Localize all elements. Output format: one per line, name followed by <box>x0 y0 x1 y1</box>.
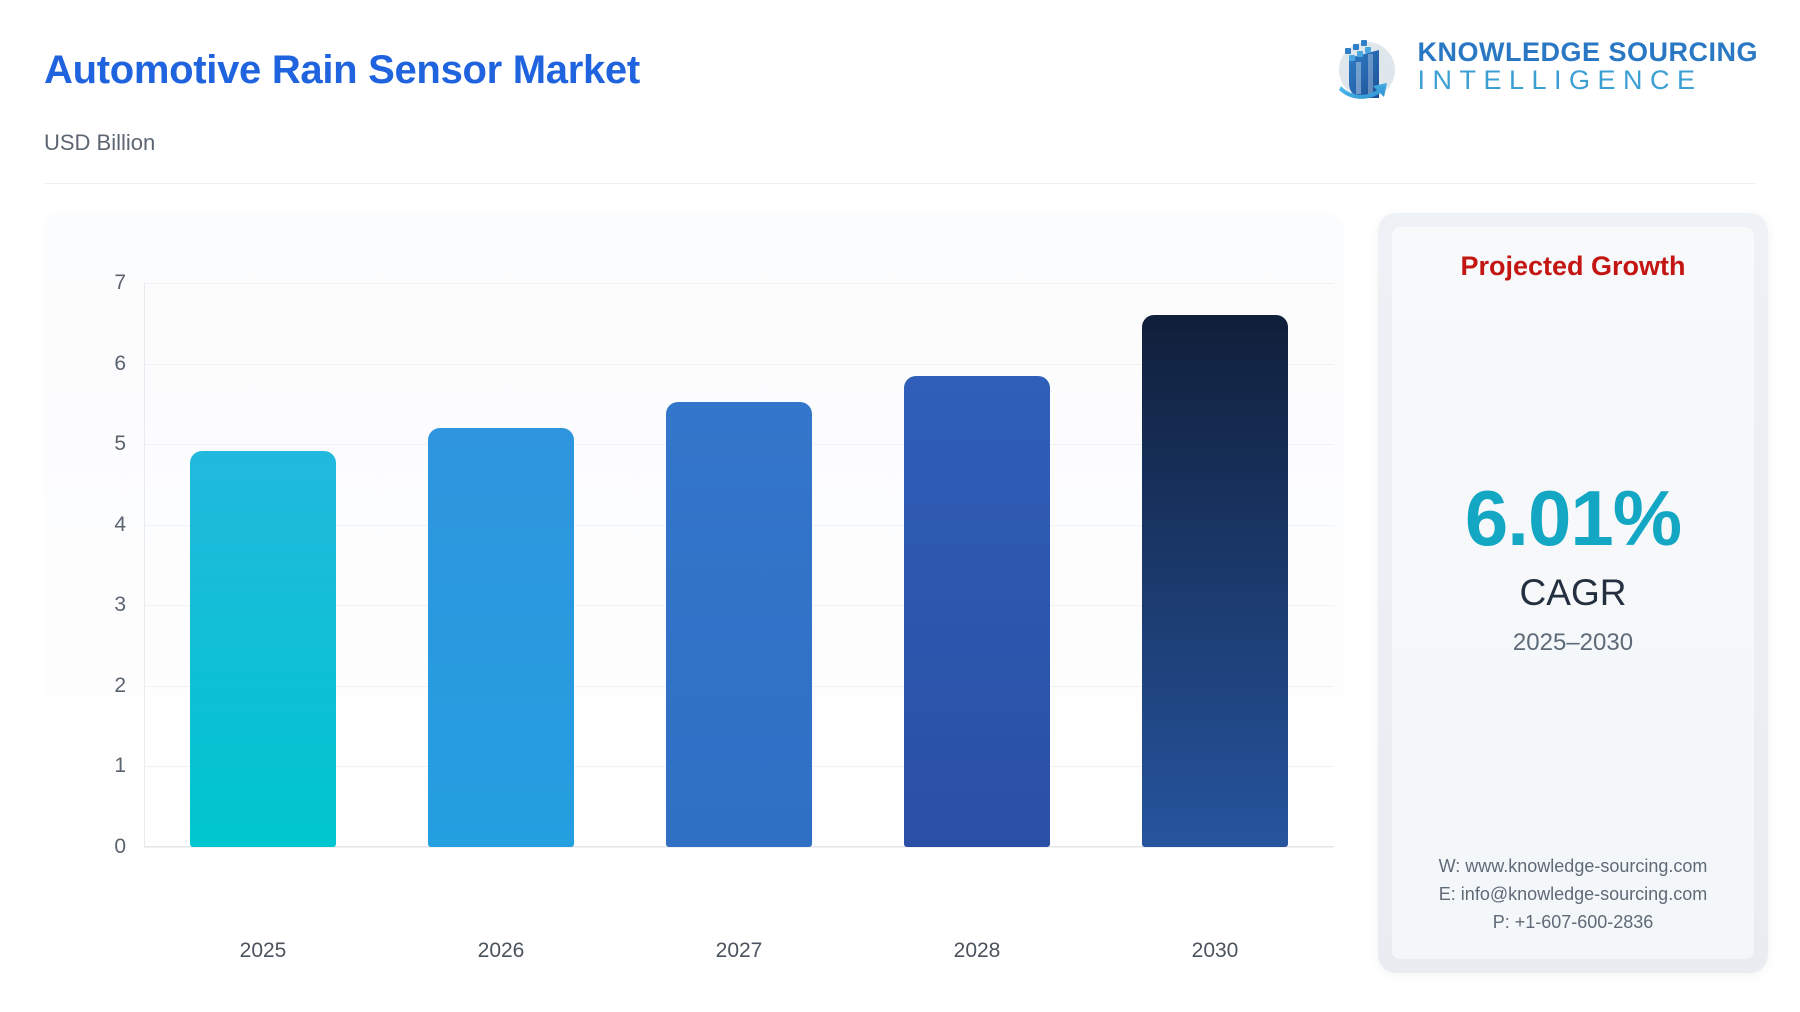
cagr-label: CAGR <box>1392 572 1754 614</box>
y-tick-label: 2 <box>86 674 126 698</box>
chart-card: 01234567 20252026202720282030 Source: Kn… <box>44 213 1344 953</box>
cagr-value: 6.01% <box>1392 473 1754 564</box>
ksi-circle-bars-arrow-logo-icon <box>1327 28 1403 104</box>
gridline <box>144 847 1334 848</box>
y-tick-label: 3 <box>86 593 126 617</box>
contact-phone[interactable]: P: +1-607-600-2836 <box>1392 909 1754 937</box>
panel-title: Projected Growth <box>1392 251 1754 282</box>
logo-wordmark: KNOWLEDGE SOURCING INTELLIGENCE <box>1417 38 1758 95</box>
y-tick-label: 0 <box>86 835 126 859</box>
logo-line-2: INTELLIGENCE <box>1417 66 1758 94</box>
contact-block: W: www.knowledge-sourcing.com E: info@kn… <box>1392 853 1754 937</box>
x-tick-label: 2027 <box>716 939 763 963</box>
y-tick-label: 7 <box>86 271 126 295</box>
market-chart-infographic: Automotive Rain Sensor Market USD Billio… <box>0 0 1800 1012</box>
y-tick-label: 6 <box>86 352 126 376</box>
bar-2025[interactable] <box>190 451 335 847</box>
logo-line-1: KNOWLEDGE SOURCING <box>1417 38 1758 66</box>
y-tick-label: 1 <box>86 754 126 778</box>
contact-website[interactable]: W: www.knowledge-sourcing.com <box>1392 853 1754 881</box>
projected-growth-panel: Projected Growth 6.01% CAGR 2025–2030 W:… <box>1378 213 1768 973</box>
bars-group <box>144 283 1334 847</box>
y-tick-label: 5 <box>86 432 126 456</box>
header: Automotive Rain Sensor Market USD Billio… <box>0 0 1800 182</box>
x-tick-label: 2030 <box>1192 939 1239 963</box>
x-tick-label: 2026 <box>478 939 525 963</box>
header-divider <box>44 183 1756 184</box>
projected-growth-panel-inner: Projected Growth 6.01% CAGR 2025–2030 W:… <box>1392 227 1754 959</box>
contact-email[interactable]: E: info@knowledge-sourcing.com <box>1392 881 1754 909</box>
y-tick-label: 4 <box>86 513 126 537</box>
x-tick-label: 2025 <box>240 939 287 963</box>
bar-2026[interactable] <box>428 428 573 847</box>
bar-chart-plot-area: 01234567 20252026202720282030 <box>144 283 1334 847</box>
page-title: Automotive Rain Sensor Market <box>44 48 640 93</box>
page-subtitle: USD Billion <box>44 130 155 156</box>
x-tick-label: 2028 <box>954 939 1001 963</box>
bar-2030[interactable] <box>1142 315 1287 847</box>
bar-2028[interactable] <box>904 376 1049 847</box>
brand-logo: KNOWLEDGE SOURCING INTELLIGENCE <box>1327 28 1758 104</box>
forecast-period: 2025–2030 <box>1392 629 1754 657</box>
bar-2027[interactable] <box>666 402 811 847</box>
